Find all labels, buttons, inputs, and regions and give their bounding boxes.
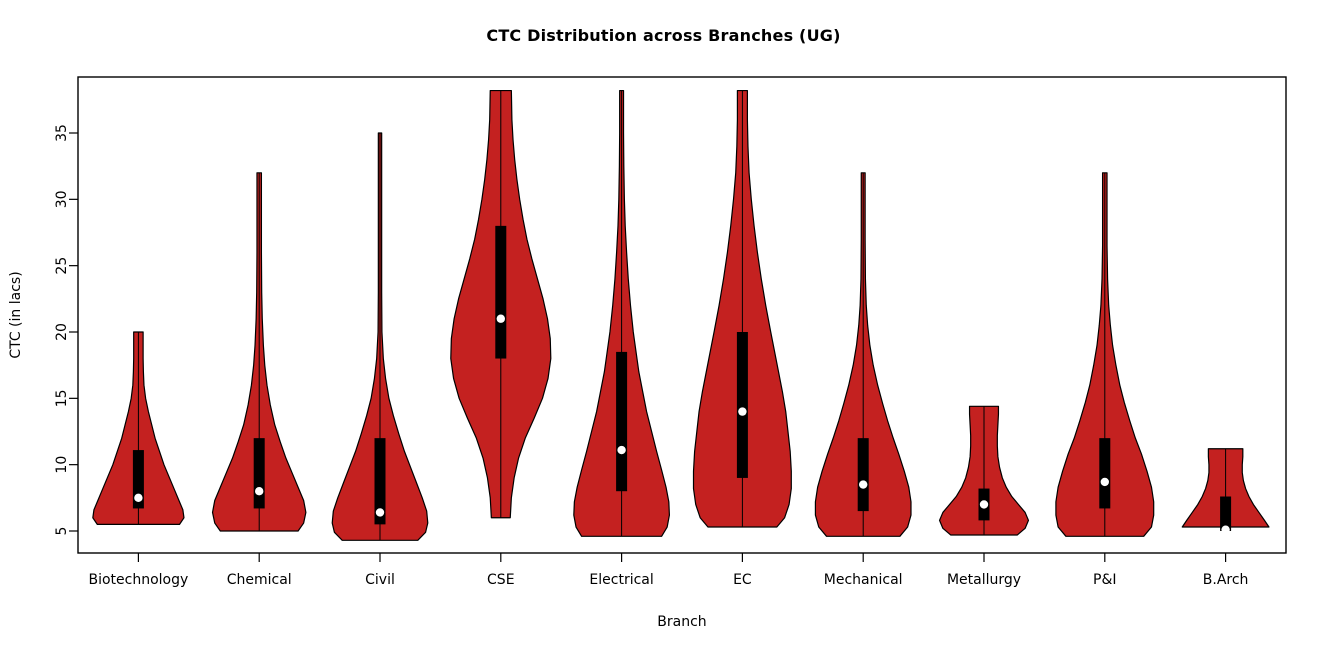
violin-ec[interactable] [694, 91, 792, 527]
x-tick-label: P&I [1093, 572, 1117, 588]
median-dot [859, 480, 867, 488]
y-tick-label: 5 [54, 527, 70, 536]
x-tick-label: Mechanical [824, 572, 903, 588]
violin-cse[interactable] [451, 91, 551, 518]
y-tick-label: 20 [54, 323, 70, 341]
median-dot [497, 315, 505, 323]
iqr-box [858, 438, 869, 511]
y-tick-label: 10 [54, 456, 70, 474]
violin-chemical[interactable] [213, 173, 306, 531]
median-dot [376, 508, 384, 516]
median-dot [255, 487, 263, 495]
y-axis-title: CTC (in lacs) [8, 271, 24, 358]
median-dot [738, 407, 746, 415]
violin-chart: 5101520253035CTC (in lacs)BiotechnologyC… [0, 0, 1327, 653]
iqr-box [616, 352, 627, 491]
violin-electrical[interactable] [574, 91, 670, 537]
violin-metallurgy[interactable] [940, 406, 1029, 535]
x-tick-label: Civil [365, 572, 395, 588]
x-tick-label: Chemical [227, 572, 292, 588]
y-tick-label: 15 [54, 389, 70, 407]
x-tick-label: Electrical [589, 572, 653, 588]
iqr-box [1099, 438, 1110, 508]
y-tick-label: 25 [54, 257, 70, 275]
violin-plot-page: CTC Distribution across Branches (UG) 51… [0, 0, 1327, 653]
x-tick-label: CSE [487, 572, 515, 588]
x-axis-title: Branch [657, 614, 706, 630]
x-tick-label: EC [733, 572, 752, 588]
violin-biotechnology[interactable] [93, 332, 184, 524]
violin-p-i[interactable] [1056, 173, 1154, 537]
iqr-box [737, 332, 748, 478]
y-tick-label: 35 [54, 124, 70, 142]
iqr-box [254, 438, 265, 508]
violin-mechanical[interactable] [815, 173, 911, 537]
violin-b-arch[interactable] [1182, 449, 1269, 534]
median-dot [617, 446, 625, 454]
median-dot [1101, 478, 1109, 486]
x-tick-label: Biotechnology [88, 572, 188, 588]
iqr-box [495, 226, 506, 359]
violin-civil[interactable] [332, 133, 428, 540]
median-dot [134, 494, 142, 502]
median-dot [980, 500, 988, 508]
x-tick-label: B.Arch [1203, 572, 1249, 588]
median-dot [1221, 525, 1229, 533]
y-tick-label: 30 [54, 190, 70, 208]
x-tick-label: Metallurgy [947, 572, 1021, 588]
